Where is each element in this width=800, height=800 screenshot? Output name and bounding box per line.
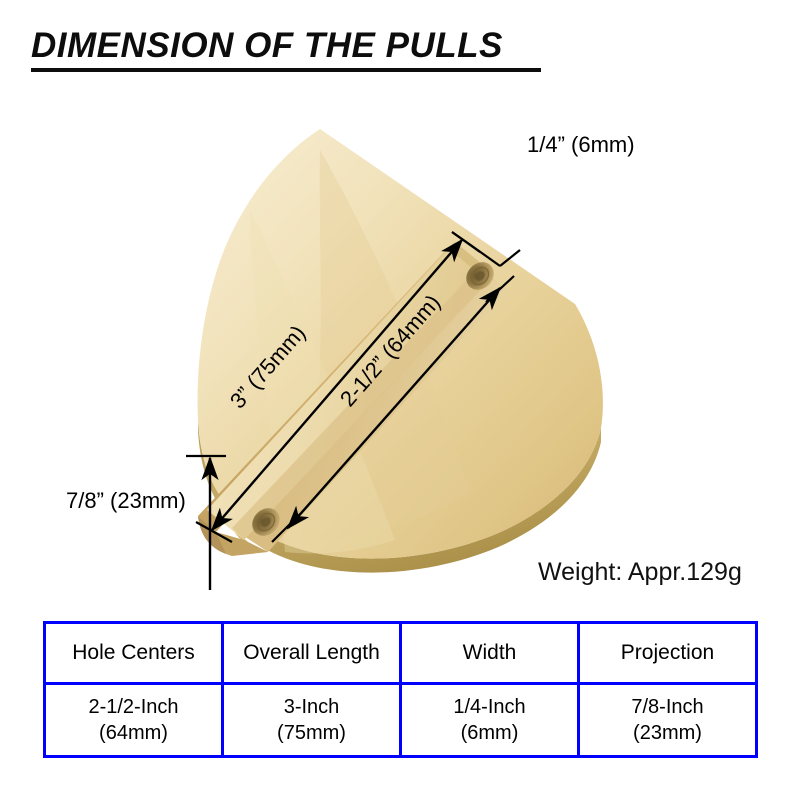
spec-value-overall-length: 3-Inch (75mm) (223, 684, 401, 757)
spec-value-projection-mm: (23mm) (581, 720, 754, 746)
page-title-block: DIMENSION OF THE PULLS (31, 26, 591, 72)
spec-value-overall-length-inch: 3-Inch (225, 694, 398, 720)
spec-value-width-mm: (6mm) (403, 720, 576, 746)
spec-table: Hole Centers Overall Length Width Projec… (43, 621, 758, 758)
weight-note: Weight: Appr.129g (538, 558, 742, 587)
spec-header-overall-length: Overall Length (223, 623, 401, 684)
spec-value-projection: 7/8-Inch (23mm) (579, 684, 757, 757)
dim-label-projection: 7/8” (23mm) (66, 488, 186, 513)
spec-value-hole-centers-mm: (64mm) (47, 720, 220, 746)
spec-value-projection-inch: 7/8-Inch (581, 694, 754, 720)
spec-value-hole-centers-inch: 2-1/2-Inch (47, 694, 220, 720)
spec-table-wrapper: Hole Centers Overall Length Width Projec… (43, 621, 758, 758)
dim-label-width: 1/4” (6mm) (527, 132, 635, 157)
spec-table-header-row: Hole Centers Overall Length Width Projec… (45, 623, 757, 684)
spec-header-hole-centers: Hole Centers (45, 623, 223, 684)
spec-value-width: 1/4-Inch (6mm) (401, 684, 579, 757)
title-underline-rule (31, 68, 541, 72)
spec-header-projection: Projection (579, 623, 757, 684)
spec-value-hole-centers: 2-1/2-Inch (64mm) (45, 684, 223, 757)
page-title: DIMENSION OF THE PULLS (31, 26, 591, 66)
spec-table-value-row: 2-1/2-Inch (64mm) 3-Inch (75mm) 1/4-Inch… (45, 684, 757, 757)
spec-value-overall-length-mm: (75mm) (225, 720, 398, 746)
product-dimension-illustration: 1/4” (6mm) 3” (75mm) 2-1/2” (64mm) 7/8” … (0, 90, 800, 590)
spec-value-width-inch: 1/4-Inch (403, 694, 576, 720)
spec-header-width: Width (401, 623, 579, 684)
